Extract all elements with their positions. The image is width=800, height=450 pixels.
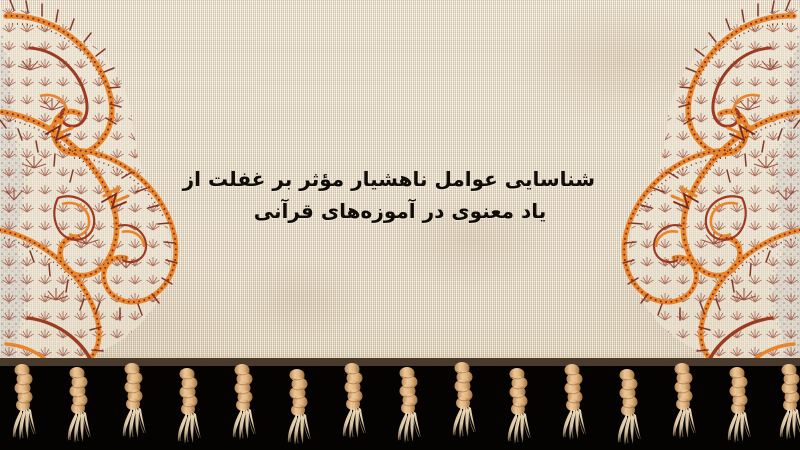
paisley-ornament-right: [570, 0, 800, 374]
title-line-2: یاد معنوی در آموزه‌های قرآنی: [205, 195, 595, 227]
banner-canvas: شناسایی عوامل ناهشیار مؤثر بر غفلت از یا…: [0, 0, 800, 450]
title-line-1: شناسایی عوامل ناهشیار مؤثر بر غفلت از: [205, 163, 595, 195]
banner-title: شناسایی عوامل ناهشیار مؤثر بر غفلت از یا…: [205, 163, 595, 227]
tassel-fringe: [0, 358, 800, 450]
